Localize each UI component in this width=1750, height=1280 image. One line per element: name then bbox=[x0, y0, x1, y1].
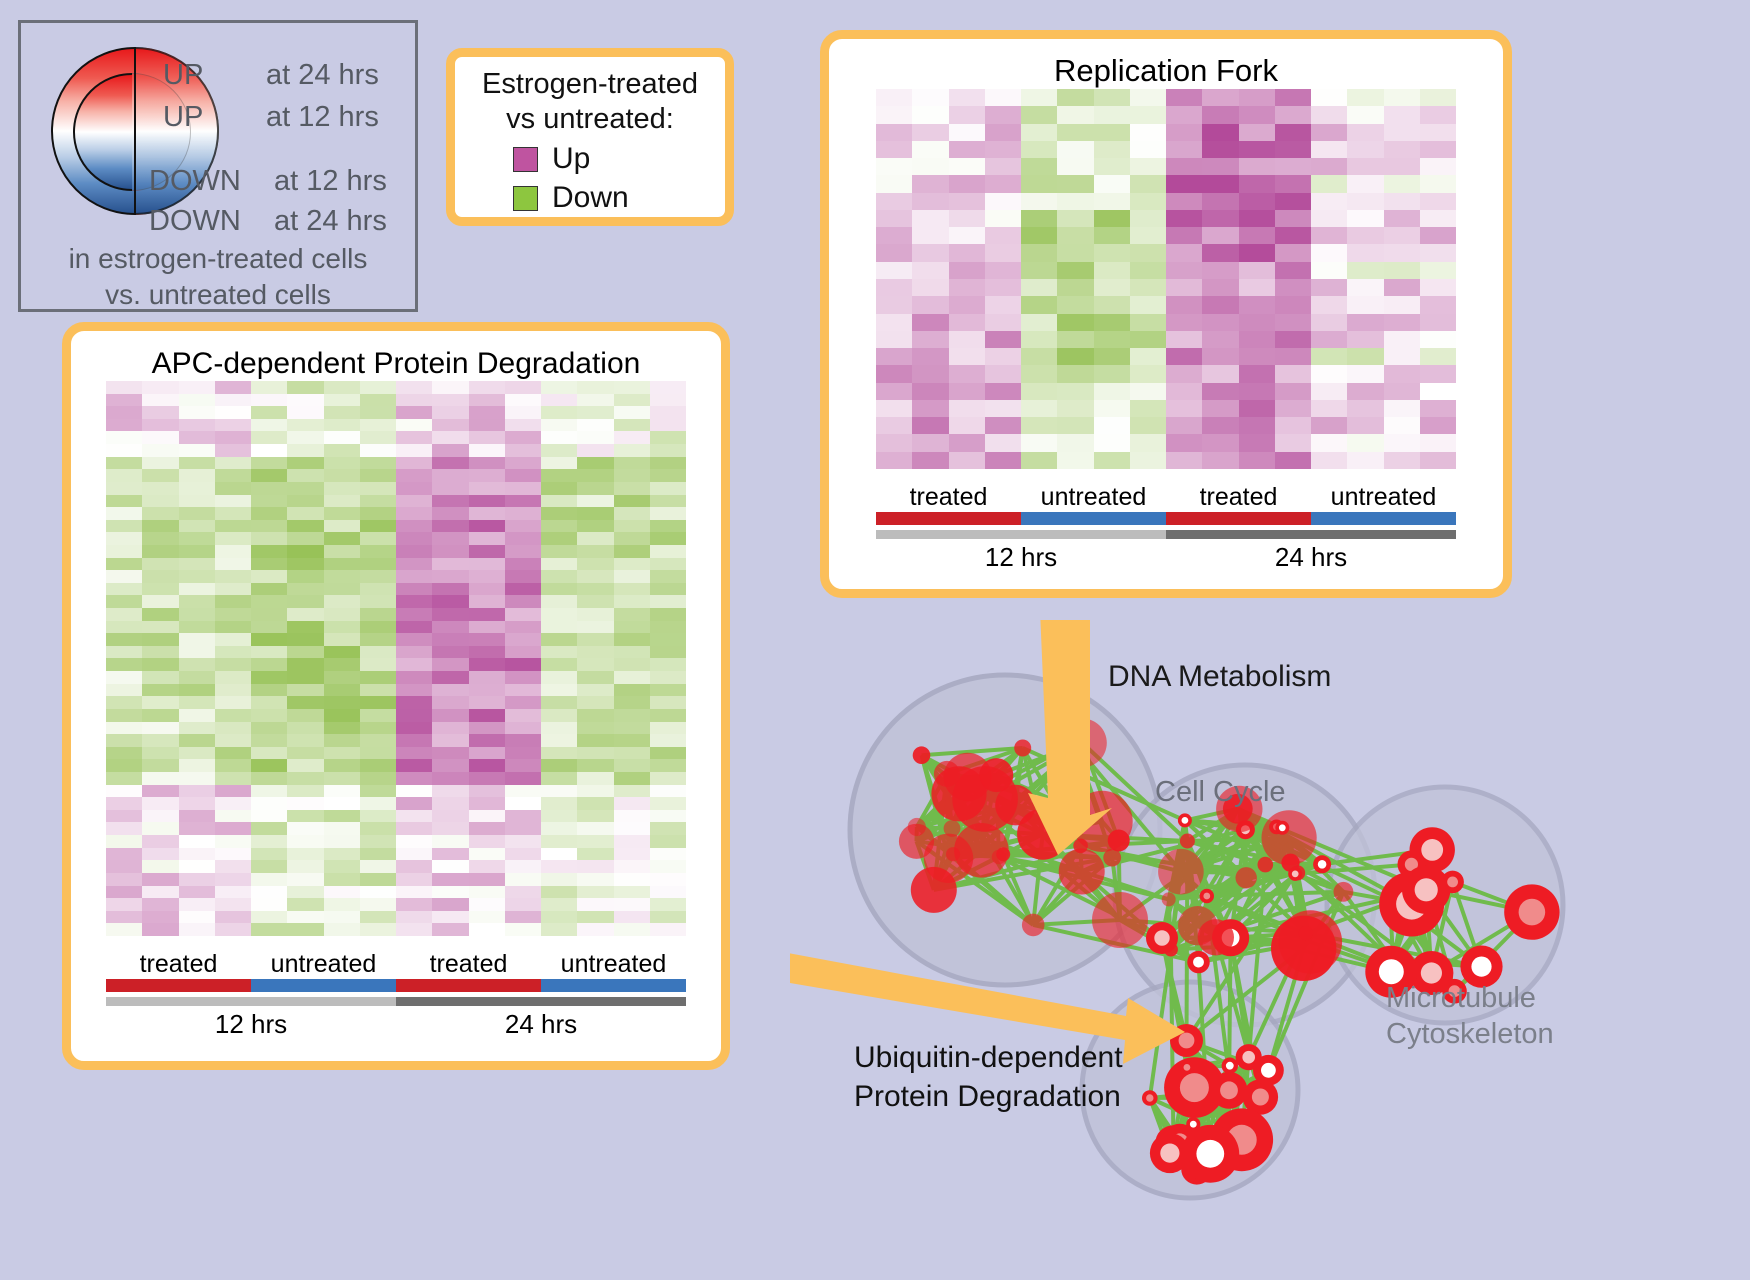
heatmap-cell bbox=[469, 873, 505, 886]
heatmap-cell bbox=[360, 595, 396, 608]
heatmap-cell bbox=[1420, 106, 1456, 123]
heatmap-cell bbox=[614, 469, 650, 482]
heatmap-cell bbox=[650, 482, 686, 495]
axis-label-apc-1: untreated bbox=[251, 950, 396, 979]
heatmap-cell bbox=[215, 734, 251, 747]
heatmap-cell bbox=[1275, 417, 1311, 434]
axis-label-rep-1: untreated bbox=[1021, 483, 1166, 512]
heatmap-cell bbox=[396, 507, 432, 520]
heatmap-cell bbox=[949, 365, 985, 382]
heatmap-cell bbox=[106, 759, 142, 772]
heatmap-cell bbox=[360, 671, 396, 684]
heatmap-cell bbox=[505, 848, 541, 861]
heatmap-cell bbox=[1239, 227, 1275, 244]
heatmap-cell bbox=[215, 482, 251, 495]
heatmap-cell bbox=[577, 595, 613, 608]
heatmap-cell bbox=[251, 495, 287, 508]
heatmap-cell bbox=[324, 722, 360, 735]
heatmap-cell bbox=[360, 444, 396, 457]
network-node-core bbox=[1203, 893, 1210, 900]
heatmap-cell bbox=[106, 595, 142, 608]
heatmap-cell bbox=[1347, 124, 1383, 141]
heatmap-cell bbox=[432, 545, 468, 558]
heatmap-cell bbox=[432, 633, 468, 646]
heatmap-cell bbox=[1057, 227, 1093, 244]
heatmap-cell bbox=[614, 873, 650, 886]
time-labels-rep: 12 hrs 24 hrs bbox=[876, 542, 1456, 573]
heatmap-cell bbox=[287, 608, 323, 621]
heatmap-cell bbox=[1275, 314, 1311, 331]
heatmap-cell bbox=[541, 419, 577, 432]
heatmap-cell bbox=[577, 469, 613, 482]
down-swatch-icon bbox=[513, 186, 538, 211]
heatmap-cell bbox=[106, 822, 142, 835]
heatmap-cell bbox=[1239, 106, 1275, 123]
heatmap-cell bbox=[577, 835, 613, 848]
heatmap-cell bbox=[469, 734, 505, 747]
heatmap-cell bbox=[215, 797, 251, 810]
heatmap-cell bbox=[912, 124, 948, 141]
heatmap-cell bbox=[396, 381, 432, 394]
heatmap-cell bbox=[396, 848, 432, 861]
network-node-core bbox=[1160, 1144, 1179, 1163]
heatmap-cell bbox=[396, 734, 432, 747]
heatmap-cell bbox=[106, 558, 142, 571]
heatmap-cell bbox=[251, 886, 287, 899]
legend-time-down-12: at 12 hrs bbox=[274, 165, 387, 198]
heatmap-cell bbox=[142, 835, 178, 848]
heatmap-cell bbox=[142, 810, 178, 823]
heatmap-cell bbox=[1239, 262, 1275, 279]
heatmap-cell bbox=[432, 923, 468, 936]
heatmap-cell bbox=[1021, 365, 1057, 382]
heatmap-cell bbox=[1384, 365, 1420, 382]
heatmap-cell bbox=[1021, 417, 1057, 434]
heatmap-cell bbox=[1202, 417, 1238, 434]
heatmap-cell bbox=[287, 646, 323, 659]
heatmap-cell bbox=[251, 759, 287, 772]
heatmap-cell bbox=[614, 406, 650, 419]
heatmap-cell bbox=[396, 671, 432, 684]
time-seg-rep-0 bbox=[876, 530, 1166, 539]
treatment-seg-rep-1 bbox=[1021, 512, 1166, 525]
heatmap-cell bbox=[949, 452, 985, 469]
heatmap-cell bbox=[1384, 400, 1420, 417]
heatmap-cell bbox=[106, 646, 142, 659]
heatmap-cell bbox=[1239, 193, 1275, 210]
heatmap-cell bbox=[396, 621, 432, 634]
heatmap-cell bbox=[505, 532, 541, 545]
heatmap-cell bbox=[1311, 452, 1347, 469]
heatmap-cell bbox=[577, 734, 613, 747]
heatmap-cell bbox=[577, 923, 613, 936]
heatmap-cell bbox=[215, 444, 251, 457]
heatmap-cell bbox=[251, 621, 287, 634]
heatmap-cell bbox=[324, 772, 360, 785]
heatmap-cell bbox=[949, 210, 985, 227]
network-node[interactable] bbox=[1334, 882, 1354, 902]
heatmap-cell bbox=[360, 545, 396, 558]
heatmap-cell bbox=[541, 696, 577, 709]
network-node[interactable] bbox=[924, 834, 973, 883]
heatmap-cell bbox=[1202, 106, 1238, 123]
heatmap-cell bbox=[396, 898, 432, 911]
heatmap-cell bbox=[1202, 434, 1238, 451]
heatmap-cell bbox=[1239, 141, 1275, 158]
heatmap-cell bbox=[541, 759, 577, 772]
heatmap-cell bbox=[1311, 348, 1347, 365]
heatmap-cell bbox=[1275, 331, 1311, 348]
heatmap-cell bbox=[179, 381, 215, 394]
network-node[interactable] bbox=[1279, 910, 1342, 973]
heatmap-cell bbox=[106, 848, 142, 861]
heatmap-cell bbox=[1166, 244, 1202, 261]
axis-label-apc-3: untreated bbox=[541, 950, 686, 979]
heatmap-cell bbox=[1275, 244, 1311, 261]
heatmap-cell bbox=[106, 785, 142, 798]
heatmap-cell bbox=[577, 532, 613, 545]
heatmap-cell bbox=[215, 873, 251, 886]
heatmap-cell bbox=[577, 797, 613, 810]
heatmap-cell bbox=[985, 314, 1021, 331]
heatmap-cell bbox=[179, 886, 215, 899]
heatmap-cell bbox=[505, 835, 541, 848]
heatmap-cell bbox=[1202, 89, 1238, 106]
heatmap-cell bbox=[1384, 383, 1420, 400]
heatmap-cell bbox=[142, 406, 178, 419]
heatmap-cell bbox=[432, 785, 468, 798]
heatmap-cell bbox=[1057, 348, 1093, 365]
heatmap-cell bbox=[1384, 279, 1420, 296]
heatmap-cell bbox=[179, 898, 215, 911]
heatmap-cell bbox=[577, 507, 613, 520]
heatmap-cell bbox=[179, 545, 215, 558]
heatmap-cell bbox=[106, 923, 142, 936]
heatmap-cell bbox=[1094, 158, 1130, 175]
heatmap-cell bbox=[614, 570, 650, 583]
up-swatch-icon bbox=[513, 147, 538, 172]
heatmap-cell bbox=[541, 810, 577, 823]
heatmap-cell bbox=[650, 633, 686, 646]
heatmap-cell bbox=[1384, 244, 1420, 261]
heatmap-cell bbox=[215, 406, 251, 419]
heatmap-cell bbox=[432, 658, 468, 671]
heatmap-cell bbox=[215, 495, 251, 508]
heatmap-cell bbox=[614, 860, 650, 873]
heatmap-cell bbox=[396, 608, 432, 621]
heatmap-cell bbox=[1021, 314, 1057, 331]
heatmap-cell bbox=[614, 419, 650, 432]
heatmap-cell bbox=[505, 595, 541, 608]
pathway-network-diagram: DNA Metabolism Cell Cycle Microtubule Cy… bbox=[790, 620, 1750, 1280]
heatmap-cell bbox=[215, 898, 251, 911]
heatmap-cell bbox=[614, 394, 650, 407]
cluster-label-dna-metabolism: DNA Metabolism bbox=[1108, 660, 1331, 694]
heatmap-cell bbox=[541, 431, 577, 444]
network-node[interactable] bbox=[1180, 834, 1195, 849]
heatmap-cell bbox=[360, 558, 396, 571]
heatmap-cell bbox=[396, 684, 432, 697]
heatmap-cell bbox=[324, 658, 360, 671]
heatmap-cell bbox=[1202, 210, 1238, 227]
network-node-core bbox=[1154, 930, 1169, 945]
heatmap-cell bbox=[106, 709, 142, 722]
heatmap-cell bbox=[469, 759, 505, 772]
network-node-core bbox=[1261, 1063, 1276, 1078]
network-node[interactable] bbox=[1022, 914, 1045, 937]
heatmap-cell bbox=[215, 419, 251, 432]
heatmap-cell bbox=[106, 772, 142, 785]
heatmap-cell bbox=[287, 532, 323, 545]
heatmap-cell bbox=[985, 158, 1021, 175]
heatmap-cell bbox=[324, 381, 360, 394]
heatmap-cell bbox=[577, 495, 613, 508]
heatmap-cell bbox=[396, 583, 432, 596]
heatmap-cell bbox=[215, 848, 251, 861]
heatmap-cell bbox=[577, 558, 613, 571]
heatmap-cell bbox=[396, 495, 432, 508]
heatmap-cell bbox=[650, 558, 686, 571]
heatmap-cell bbox=[1094, 434, 1130, 451]
heatmap-cell bbox=[324, 457, 360, 470]
heatmap-cell bbox=[577, 873, 613, 886]
heatmap-cell bbox=[287, 923, 323, 936]
network-node-core bbox=[1447, 877, 1458, 888]
heatmap-cell bbox=[1202, 158, 1238, 175]
heatmap-cell bbox=[1239, 279, 1275, 296]
treatment-colorbar-rep bbox=[876, 512, 1456, 525]
heatmap-cell bbox=[469, 457, 505, 470]
heatmap-cell bbox=[505, 583, 541, 596]
heatmap-cell bbox=[287, 822, 323, 835]
heatmap-cell bbox=[360, 406, 396, 419]
heatmap-cell bbox=[251, 860, 287, 873]
heatmap-cell bbox=[912, 89, 948, 106]
heatmap-cell bbox=[1202, 124, 1238, 141]
heatmap-cell bbox=[142, 860, 178, 873]
heatmap-cell bbox=[469, 911, 505, 924]
heatmap-cell bbox=[469, 419, 505, 432]
heatmap-cell bbox=[432, 797, 468, 810]
heatmap-cell bbox=[1094, 348, 1130, 365]
heatmap-cell bbox=[1311, 417, 1347, 434]
heatmap-cell bbox=[215, 658, 251, 671]
heatmap-cell bbox=[287, 785, 323, 798]
heatmap-cell bbox=[949, 383, 985, 400]
heatmap-cell bbox=[1347, 417, 1383, 434]
heatmap-cell bbox=[324, 419, 360, 432]
heatmap-cell bbox=[577, 646, 613, 659]
heatmap-cell bbox=[287, 570, 323, 583]
network-node[interactable] bbox=[1092, 892, 1148, 948]
heatmap-cell bbox=[1347, 106, 1383, 123]
heatmap-cell bbox=[469, 608, 505, 621]
heatmap-cell bbox=[1239, 365, 1275, 382]
heatmap-cell bbox=[324, 684, 360, 697]
heatmap-cell bbox=[1311, 124, 1347, 141]
heatmap-cell bbox=[106, 898, 142, 911]
network-node[interactable] bbox=[1059, 849, 1105, 895]
heatmap-cell bbox=[1347, 158, 1383, 175]
heatmap-cell bbox=[432, 848, 468, 861]
heatmap-cell bbox=[106, 911, 142, 924]
heatmap-cell bbox=[912, 106, 948, 123]
heatmap-cell bbox=[985, 417, 1021, 434]
heatmap-cell bbox=[505, 469, 541, 482]
heatmap-cell bbox=[432, 457, 468, 470]
heatmap-cell bbox=[1130, 227, 1166, 244]
heatmap-cell bbox=[469, 469, 505, 482]
heatmap-cell bbox=[179, 810, 215, 823]
network-node[interactable] bbox=[1162, 892, 1176, 906]
network-node[interactable] bbox=[1258, 857, 1274, 873]
heatmap-cell bbox=[505, 734, 541, 747]
heatmap-cell bbox=[215, 431, 251, 444]
heatmap-cell bbox=[360, 570, 396, 583]
heatmap-cell bbox=[650, 797, 686, 810]
heatmap-cell bbox=[360, 469, 396, 482]
heatmap-cell bbox=[650, 785, 686, 798]
heatmap-cell bbox=[949, 262, 985, 279]
heatmap-cell bbox=[251, 873, 287, 886]
network-node[interactable] bbox=[1236, 867, 1257, 888]
network-node[interactable] bbox=[1158, 849, 1204, 895]
heatmap-cell bbox=[432, 646, 468, 659]
network-node[interactable] bbox=[913, 746, 931, 764]
heatmap-cell bbox=[142, 898, 178, 911]
heatmap-cell bbox=[106, 507, 142, 520]
heatmap-cell bbox=[469, 495, 505, 508]
heatmap-cell bbox=[577, 886, 613, 899]
heatmap-cell bbox=[396, 406, 432, 419]
heatmap-cell bbox=[1166, 193, 1202, 210]
heatmap-cell bbox=[505, 860, 541, 873]
heatmap-cell bbox=[215, 772, 251, 785]
heatmap-cell bbox=[1094, 106, 1130, 123]
heatmap-cell bbox=[1021, 244, 1057, 261]
network-node[interactable] bbox=[1299, 926, 1313, 940]
heatmap-cell bbox=[106, 406, 142, 419]
heatmap-cell bbox=[432, 570, 468, 583]
heatmap-cell bbox=[1420, 262, 1456, 279]
heatmap-cell bbox=[650, 444, 686, 457]
heatmap-cell bbox=[215, 759, 251, 772]
heatmap-cell bbox=[215, 583, 251, 596]
heatmap-cell bbox=[1094, 452, 1130, 469]
heatmap-cell bbox=[614, 835, 650, 848]
heatmap-cell bbox=[876, 244, 912, 261]
heatmap-cell bbox=[142, 545, 178, 558]
heatmap-cell bbox=[1202, 227, 1238, 244]
heatmap-cell bbox=[179, 570, 215, 583]
heatmap-cell bbox=[876, 210, 912, 227]
treatment-seg-rep-2 bbox=[1166, 512, 1311, 525]
network-node-core bbox=[1519, 899, 1546, 926]
heatmap-cell bbox=[505, 747, 541, 760]
heatmap-cell bbox=[1130, 434, 1166, 451]
heatmap-cell bbox=[577, 457, 613, 470]
heatmap-cell bbox=[1166, 227, 1202, 244]
heatmap-cell bbox=[1021, 89, 1057, 106]
heatmap-cell bbox=[650, 469, 686, 482]
heatmap-cell bbox=[432, 810, 468, 823]
time-colorbar-apc bbox=[106, 997, 686, 1006]
heatmap-cell bbox=[360, 848, 396, 861]
heatmap-cell bbox=[912, 434, 948, 451]
network-node[interactable] bbox=[979, 758, 1013, 792]
heatmap-cell bbox=[1311, 210, 1347, 227]
heatmap-cell bbox=[1057, 314, 1093, 331]
heatmap-cell bbox=[541, 469, 577, 482]
heatmap-cell bbox=[1384, 141, 1420, 158]
heatmap-cell bbox=[1384, 124, 1420, 141]
heatmap-cell bbox=[179, 419, 215, 432]
heatmap-cell bbox=[1094, 296, 1130, 313]
network-node[interactable] bbox=[1198, 919, 1234, 955]
heatmap-cell bbox=[251, 532, 287, 545]
heatmap-cell bbox=[985, 262, 1021, 279]
heatmap-cell bbox=[577, 394, 613, 407]
heatmap-cell bbox=[1347, 262, 1383, 279]
heatmap-cell bbox=[876, 262, 912, 279]
heatmap-cell bbox=[650, 848, 686, 861]
heatmap-cell bbox=[215, 709, 251, 722]
heatmap-cell bbox=[106, 419, 142, 432]
heatmap-cell bbox=[1420, 210, 1456, 227]
heatmap-cell bbox=[215, 545, 251, 558]
heatmap-cell bbox=[287, 734, 323, 747]
treatment-seg-rep-0 bbox=[876, 512, 1021, 525]
heatmap-cell bbox=[432, 671, 468, 684]
heatmap-cell bbox=[1239, 124, 1275, 141]
heatmap-cell bbox=[949, 348, 985, 365]
heatmap-cell bbox=[1311, 193, 1347, 210]
heatmap-cell bbox=[469, 658, 505, 671]
heatmap-cell bbox=[876, 348, 912, 365]
heatmap-cell bbox=[106, 444, 142, 457]
heatmap-cell bbox=[396, 658, 432, 671]
heatmap-cell bbox=[215, 469, 251, 482]
heatmap-cell bbox=[251, 671, 287, 684]
heatmap-cell bbox=[179, 696, 215, 709]
heatmap-cell bbox=[650, 532, 686, 545]
heatmap-cell bbox=[360, 810, 396, 823]
heatmap-cell bbox=[432, 482, 468, 495]
heatmap-cell bbox=[1275, 141, 1311, 158]
heatmap-cell bbox=[251, 633, 287, 646]
network-node[interactable] bbox=[1014, 740, 1031, 757]
heatmap-cell bbox=[469, 646, 505, 659]
heatmap-cell bbox=[106, 621, 142, 634]
heatmap-cell bbox=[577, 722, 613, 735]
heatmap-cell bbox=[541, 835, 577, 848]
legend-time-down-24: at 24 hrs bbox=[274, 205, 387, 238]
heatmap-cell bbox=[614, 886, 650, 899]
heatmap-cell bbox=[614, 495, 650, 508]
heatmap-cell bbox=[1239, 331, 1275, 348]
heatmap-cell bbox=[1057, 331, 1093, 348]
heatmap-cell bbox=[251, 646, 287, 659]
heatmap-cell bbox=[912, 279, 948, 296]
heatmap-cell bbox=[1384, 89, 1420, 106]
heatmap-cell bbox=[287, 759, 323, 772]
heatmap-cell bbox=[650, 545, 686, 558]
heatmap-cell bbox=[541, 507, 577, 520]
heatmap-cell bbox=[1130, 175, 1166, 192]
heatmap-cell bbox=[876, 365, 912, 382]
heatmap-cell bbox=[106, 860, 142, 873]
heatmap-cell bbox=[505, 696, 541, 709]
